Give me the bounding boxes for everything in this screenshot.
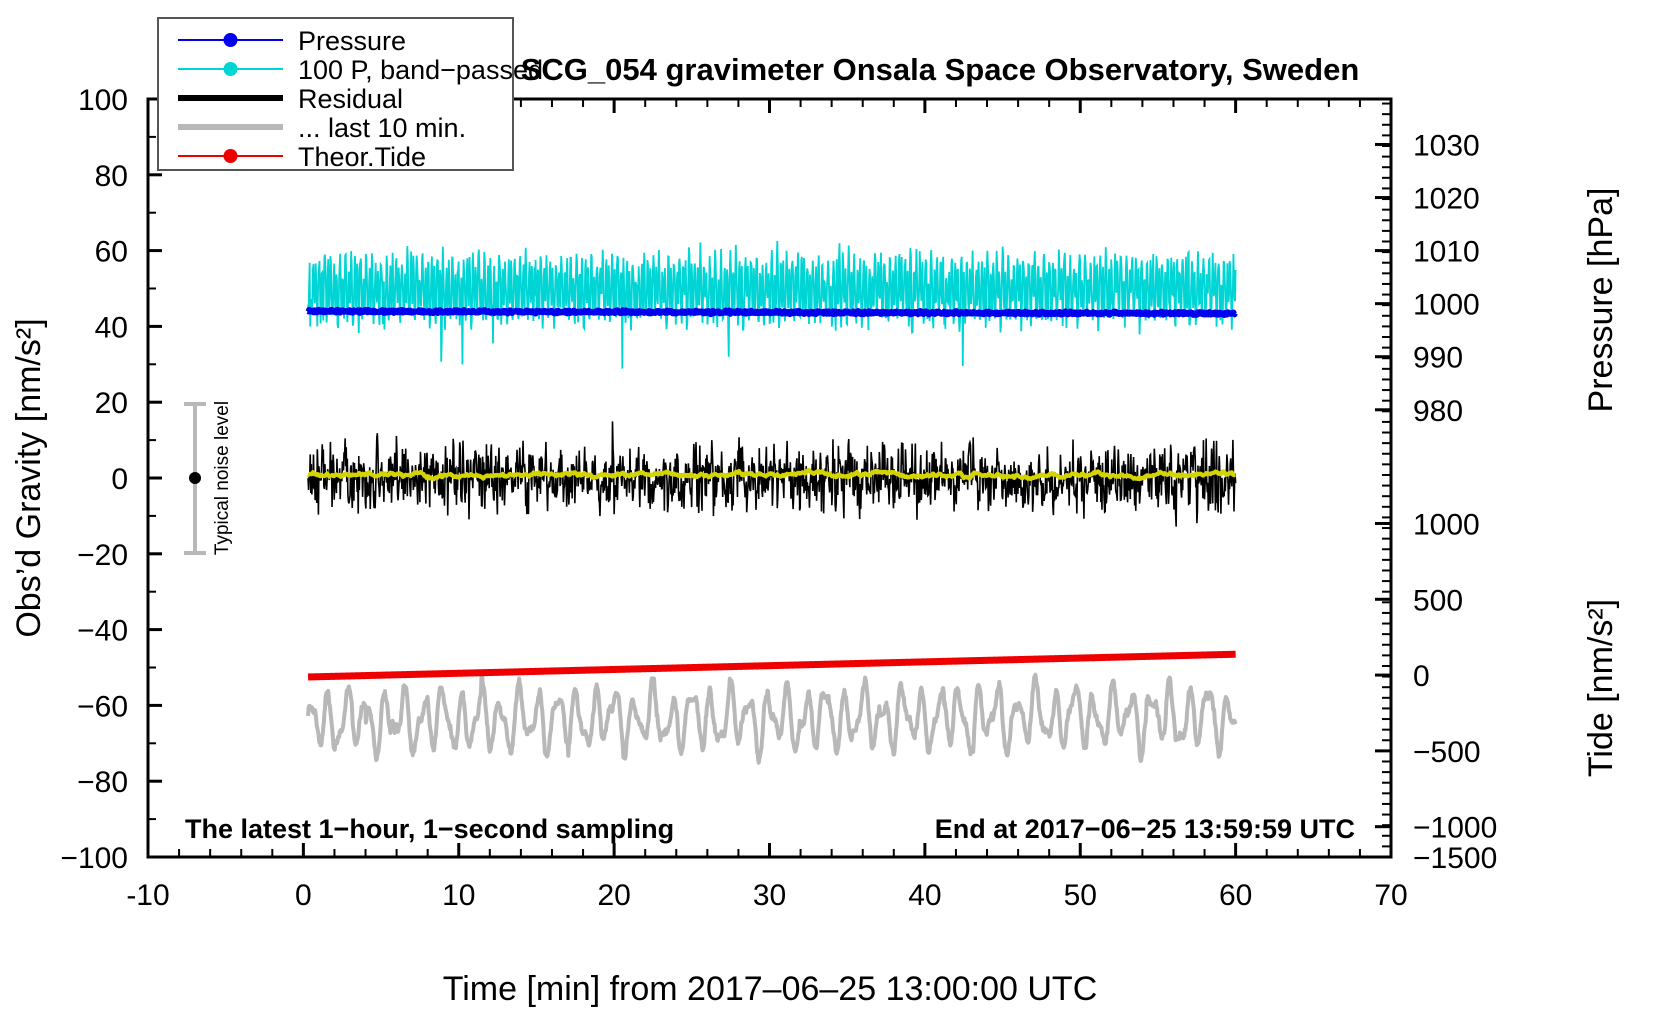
chart-page: -10010203040506070100806040200−20−40−60−… — [0, 0, 1660, 1020]
x-tick-label: 10 — [442, 879, 475, 912]
y-axis-title-tide: Tide [nm/s²] — [1582, 599, 1620, 777]
y-tick-label-tide: −500 — [1413, 736, 1481, 769]
y-tick-label-left: −100 — [60, 842, 128, 875]
y-tick-label-left: 20 — [95, 387, 128, 420]
x-tick-label: 70 — [1374, 879, 1407, 912]
y-tick-label-left: 40 — [95, 311, 128, 344]
y-tick-label-left: −20 — [77, 539, 128, 572]
sampling-note: The latest 1−hour, 1−second sampling — [185, 814, 674, 844]
y-tick-label-pressure: 1010 — [1413, 236, 1480, 269]
legend-label: Pressure — [298, 26, 406, 56]
y-tick-label-left: 0 — [111, 463, 128, 496]
x-tick-label: 20 — [597, 879, 630, 912]
y-tick-label-left: −60 — [77, 690, 128, 723]
legend-marker-dot — [224, 33, 238, 47]
gravimeter-chart: -10010203040506070100806040200−20−40−60−… — [0, 0, 1660, 1020]
y-tick-label-pressure: 1030 — [1413, 129, 1480, 162]
y-tick-label-pressure: 990 — [1413, 342, 1463, 375]
x-tick-label: 30 — [753, 879, 786, 912]
x-tick-label: 60 — [1219, 879, 1252, 912]
y-tick-label-left: 100 — [78, 84, 128, 117]
y-tick-label-left: 60 — [95, 236, 128, 269]
y-tick-label-tide: −1500 — [1413, 842, 1497, 875]
x-tick-label: 40 — [908, 879, 941, 912]
y-tick-label-tide: 1000 — [1413, 508, 1480, 541]
y-tick-label-left: −40 — [77, 615, 128, 648]
noise-level-label: Typical noise level — [212, 401, 233, 555]
legend-label: 100 P, band−passed — [298, 55, 543, 85]
y-tick-label-tide: 500 — [1413, 584, 1463, 617]
y-axis-title-pressure: Pressure [hPa] — [1582, 188, 1620, 413]
y-tick-label-pressure: 1000 — [1413, 289, 1480, 322]
legend-marker-dot — [224, 62, 238, 76]
end-time-note: End at 2017−06−25 13:59:59 UTC — [935, 814, 1355, 844]
legend-label: Residual — [298, 84, 403, 114]
y-tick-label-pressure: 980 — [1413, 395, 1463, 428]
y-tick-label-tide: −1000 — [1413, 812, 1497, 845]
y-tick-label-tide: 0 — [1413, 660, 1430, 693]
x-axis-title: Time [min] from 2017–06–25 13:00:00 UTC — [443, 970, 1098, 1008]
x-tick-label: 50 — [1064, 879, 1097, 912]
chart-title: SCG_054 gravimeter Onsala Space Observat… — [521, 52, 1360, 87]
y-tick-label-pressure: 1020 — [1413, 183, 1480, 216]
x-tick-label: -10 — [126, 879, 169, 912]
legend-label: ... last 10 min. — [298, 113, 466, 143]
chart-legend: Pressure100 P, band−passedResidual... la… — [158, 18, 543, 172]
trace-pressure — [308, 310, 1236, 315]
legend-marker-dot — [224, 149, 238, 163]
x-tick-label: 0 — [295, 879, 312, 912]
y-tick-label-left: −80 — [77, 766, 128, 799]
y-axis-title-left: Obs’d Gravity [nm/s²] — [10, 318, 48, 637]
legend-label: Theor.Tide — [298, 142, 426, 172]
y-tick-label-left: 80 — [95, 160, 128, 193]
